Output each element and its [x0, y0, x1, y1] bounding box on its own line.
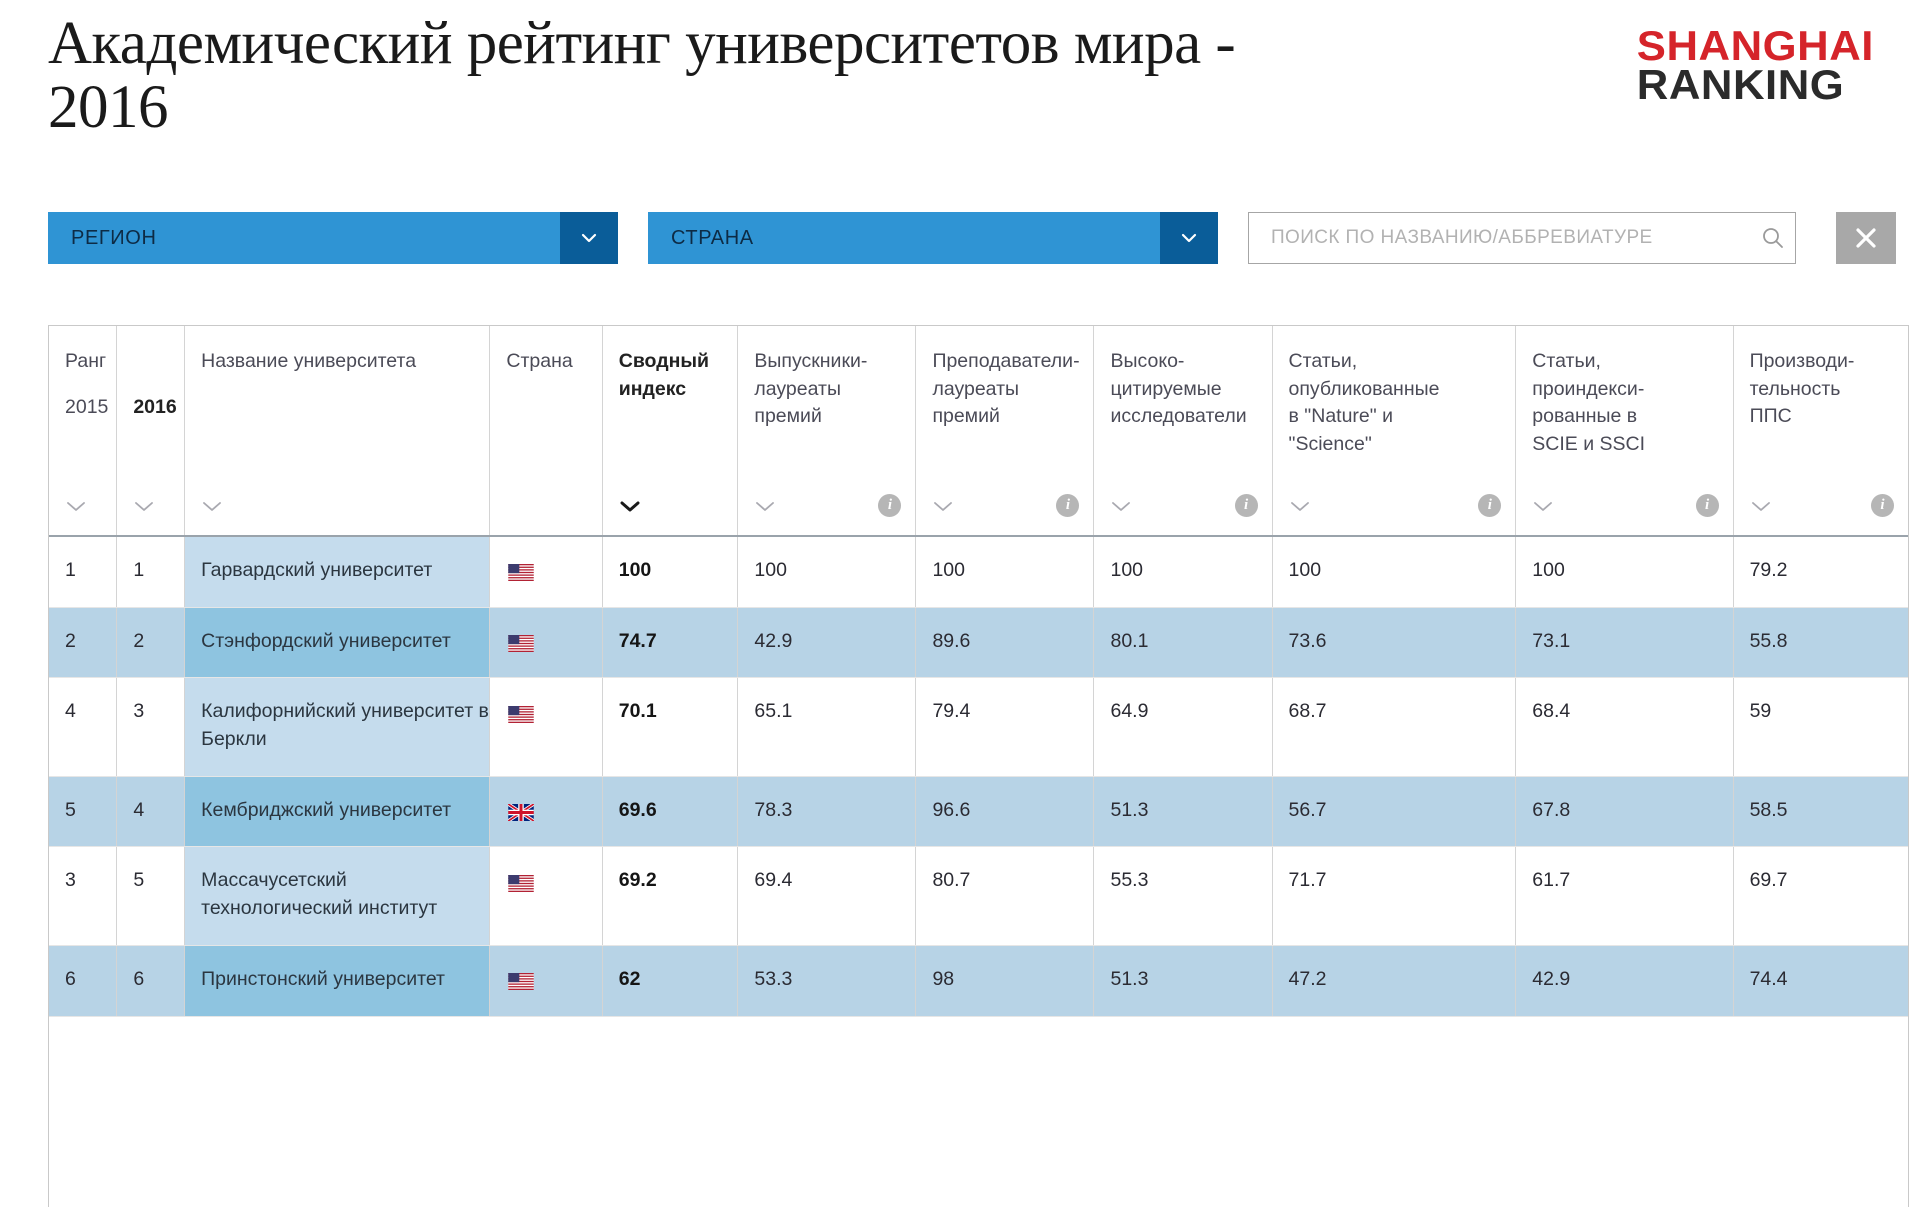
- table-head: Ранг 2015 2016 Название универси: [49, 326, 1908, 536]
- sort-chevron-icon-active[interactable]: [619, 499, 641, 513]
- rank-group-label: Ранг: [65, 348, 116, 376]
- cell-nature-science: 47.2: [1272, 945, 1516, 1016]
- alumni-line-2: лауреаты: [754, 376, 915, 404]
- ns-line-3: в "Nature" и: [1289, 403, 1516, 431]
- info-icon[interactable]: i: [1235, 494, 1258, 517]
- hici-line-3: исследователи: [1110, 403, 1271, 431]
- sort-chevron-icon[interactable]: [754, 499, 776, 513]
- pcp-line-1: Производи-: [1750, 348, 1908, 376]
- search-box[interactable]: [1248, 212, 1796, 264]
- cell-highly-cited: 51.3: [1094, 945, 1272, 1016]
- cell-university-name[interactable]: Калифорнийский университет в Беркли: [185, 678, 490, 776]
- flag-icon-uk: [508, 804, 534, 821]
- cell-nature-science: 68.7: [1272, 678, 1516, 776]
- country-select[interactable]: СТРАНА: [648, 212, 1218, 264]
- info-icon[interactable]: i: [878, 494, 901, 517]
- column-header-award[interactable]: Преподаватели- лауреаты премий i: [916, 326, 1094, 536]
- cell-country-flag: [490, 536, 602, 607]
- info-icon[interactable]: i: [1871, 494, 1894, 517]
- sort-chevron-icon[interactable]: [201, 499, 223, 513]
- cell-rank-2015: 1: [49, 536, 117, 607]
- cell-country-flag: [490, 607, 602, 678]
- filter-bar: РЕГИОН СТРАНА: [0, 212, 1920, 264]
- pub-line-1: Статьи,: [1532, 348, 1732, 376]
- cell-per-capita: 55.8: [1733, 607, 1908, 678]
- column-header-highly-cited[interactable]: Высоко- цитируемые исследователи i: [1094, 326, 1272, 536]
- cell-highly-cited: 80.1: [1094, 607, 1272, 678]
- cell-university-name[interactable]: Массачусетский технологический институт: [185, 847, 490, 945]
- cell-university-name[interactable]: Стэнфордский университет: [185, 607, 490, 678]
- cell-highly-cited: 55.3: [1094, 847, 1272, 945]
- cell-scie-ssci: 73.1: [1516, 607, 1733, 678]
- cell-highly-cited: 100: [1094, 536, 1272, 607]
- hici-line-1: Высоко-: [1110, 348, 1271, 376]
- table-row[interactable]: 35Массачусетский технологический институ…: [49, 847, 1908, 945]
- rank-year-2016-label: 2016: [133, 394, 184, 422]
- close-icon: [1851, 223, 1881, 253]
- cell-rank-2015: 2: [49, 607, 117, 678]
- flag-icon-us: [508, 564, 534, 581]
- rank-year-2015-label: 2015: [65, 394, 116, 422]
- region-select[interactable]: РЕГИОН: [48, 212, 618, 264]
- region-select-label: РЕГИОН: [48, 227, 560, 250]
- cell-scie-ssci: 67.8: [1516, 776, 1733, 847]
- cell-award: 89.6: [916, 607, 1094, 678]
- ns-line-1: Статьи,: [1289, 348, 1516, 376]
- cell-award: 80.7: [916, 847, 1094, 945]
- ranking-table: Ранг 2015 2016 Название универси: [49, 326, 1908, 1017]
- cell-per-capita: 59: [1733, 678, 1908, 776]
- column-header-university-label: Название университета: [201, 348, 489, 376]
- cell-award: 98: [916, 945, 1094, 1016]
- sort-chevron-icon[interactable]: [133, 499, 155, 513]
- cell-rank-2015: 6: [49, 945, 117, 1016]
- cell-country-flag: [490, 776, 602, 847]
- cell-nature-science: 71.7: [1272, 847, 1516, 945]
- chevron-down-icon[interactable]: [560, 212, 618, 264]
- cell-country-flag: [490, 847, 602, 945]
- cell-nature-science: 73.6: [1272, 607, 1516, 678]
- cell-award: 100: [916, 536, 1094, 607]
- cell-university-name[interactable]: Гарвардский университет: [185, 536, 490, 607]
- cell-total-score: 69.6: [602, 776, 738, 847]
- column-header-scie-ssci[interactable]: Статьи, проиндекси- рованные в SCIE и SS…: [1516, 326, 1733, 536]
- hici-line-2: цитируемые: [1110, 376, 1271, 404]
- table-row[interactable]: 66Принстонский университет6253.39851.347…: [49, 945, 1908, 1016]
- table-row[interactable]: 54Кембриджский университет69.678.396.651…: [49, 776, 1908, 847]
- flag-icon-us: [508, 635, 534, 652]
- column-header-country-label: Страна: [506, 348, 601, 376]
- award-line-2: лауреаты: [932, 376, 1093, 404]
- cell-rank-2016: 4: [117, 776, 185, 847]
- cell-alumni: 65.1: [738, 678, 916, 776]
- cell-rank-2015: 3: [49, 847, 117, 945]
- cell-award: 79.4: [916, 678, 1094, 776]
- column-header-rank-2015[interactable]: Ранг 2015: [49, 326, 117, 536]
- table-header-row: Ранг 2015 2016 Название универси: [49, 326, 1908, 536]
- flag-icon-us: [508, 706, 534, 723]
- award-line-3: премий: [932, 403, 1093, 431]
- ns-line-2: опубликованные: [1289, 376, 1516, 404]
- search-input[interactable]: [1249, 226, 1751, 250]
- info-icon[interactable]: i: [1056, 494, 1079, 517]
- sort-chevron-icon[interactable]: [1532, 499, 1554, 513]
- sort-chevron-icon[interactable]: [1289, 499, 1311, 513]
- cell-per-capita: 79.2: [1733, 536, 1908, 607]
- cell-scie-ssci: 68.4: [1516, 678, 1733, 776]
- sort-chevron-icon[interactable]: [1750, 499, 1772, 513]
- cell-alumni: 69.4: [738, 847, 916, 945]
- cell-per-capita: 58.5: [1733, 776, 1908, 847]
- cell-rank-2016: 1: [117, 536, 185, 607]
- total-score-line-1: Сводный: [619, 348, 738, 376]
- table-body: 11Гарвардский университет100100100100100…: [49, 536, 1908, 1016]
- award-line-1: Преподаватели-: [932, 348, 1093, 376]
- alumni-line-3: премий: [754, 403, 915, 431]
- ns-line-4: "Science": [1289, 431, 1516, 459]
- cell-scie-ssci: 61.7: [1516, 847, 1733, 945]
- total-score-line-2: индекс: [619, 376, 738, 404]
- search-icon[interactable]: [1751, 225, 1795, 251]
- cell-country-flag: [490, 678, 602, 776]
- cell-alumni: 53.3: [738, 945, 916, 1016]
- search-glyph: [1760, 225, 1786, 251]
- table-row[interactable]: 22Стэнфордский университет74.742.989.680…: [49, 607, 1908, 678]
- cell-rank-2016: 6: [117, 945, 185, 1016]
- sort-chevron-icon[interactable]: [65, 499, 87, 513]
- info-icon[interactable]: i: [1696, 494, 1719, 517]
- pcp-line-3: ППС: [1750, 403, 1908, 431]
- info-icon[interactable]: i: [1478, 494, 1501, 517]
- cell-rank-2015: 5: [49, 776, 117, 847]
- column-header-rank-2016[interactable]: 2016: [117, 326, 185, 536]
- cell-total-score: 70.1: [602, 678, 738, 776]
- column-header-total-score[interactable]: Сводный индекс: [602, 326, 738, 536]
- cell-total-score: 100: [602, 536, 738, 607]
- sort-chevron-icon[interactable]: [1110, 499, 1132, 513]
- chevron-down-glyph: [579, 228, 599, 248]
- ranking-table-container: Ранг 2015 2016 Название универси: [48, 325, 1909, 1207]
- column-header-alumni[interactable]: Выпускники- лауреаты премий i: [738, 326, 916, 536]
- logo-shanghai-text: SHANGHAI: [1637, 26, 1907, 65]
- country-select-label: СТРАНА: [648, 227, 1160, 250]
- cell-alumni: 78.3: [738, 776, 916, 847]
- cell-rank-2016: 2: [117, 607, 185, 678]
- table-row[interactable]: 11Гарвардский университет100100100100100…: [49, 536, 1908, 607]
- cell-scie-ssci: 100: [1516, 536, 1733, 607]
- cell-country-flag: [490, 945, 602, 1016]
- page-header: Академический рейтинг университетов мира…: [0, 0, 1920, 175]
- cell-total-score: 74.7: [602, 607, 738, 678]
- cell-per-capita: 69.7: [1733, 847, 1908, 945]
- flag-icon-us: [508, 875, 534, 892]
- page-title: Академический рейтинг университетов мира…: [48, 12, 1248, 140]
- flag-icon-us: [508, 973, 534, 990]
- cell-highly-cited: 51.3: [1094, 776, 1272, 847]
- shanghai-ranking-logo: SHANGHAI RANKING: [1637, 26, 1907, 104]
- pub-line-2: проиндекси-: [1532, 376, 1732, 404]
- cell-total-score: 62: [602, 945, 738, 1016]
- cell-university-name[interactable]: Принстонский университет: [185, 945, 490, 1016]
- cell-nature-science: 100: [1272, 536, 1516, 607]
- chevron-down-glyph: [1179, 228, 1199, 248]
- column-header-per-capita[interactable]: Производи- тельность ППС i: [1733, 326, 1908, 536]
- cell-scie-ssci: 42.9: [1516, 945, 1733, 1016]
- pub-line-4: SCIE и SSCI: [1532, 431, 1732, 459]
- cell-alumni: 100: [738, 536, 916, 607]
- chevron-down-icon[interactable]: [1160, 212, 1218, 264]
- pcp-line-2: тельность: [1750, 376, 1908, 404]
- column-header-university[interactable]: Название университета: [185, 326, 490, 536]
- alumni-line-1: Выпускники-: [754, 348, 915, 376]
- cell-total-score: 69.2: [602, 847, 738, 945]
- cell-per-capita: 74.4: [1733, 945, 1908, 1016]
- cell-rank-2016: 3: [117, 678, 185, 776]
- column-header-country: Страна: [490, 326, 602, 536]
- clear-filters-button[interactable]: [1836, 212, 1896, 264]
- rank-spacer: [133, 348, 184, 376]
- logo-ranking-text: RANKING: [1637, 65, 1907, 104]
- sort-chevron-icon[interactable]: [932, 499, 954, 513]
- cell-university-name[interactable]: Кембриджский университет: [185, 776, 490, 847]
- cell-nature-science: 56.7: [1272, 776, 1516, 847]
- cell-rank-2015: 4: [49, 678, 117, 776]
- cell-rank-2016: 5: [117, 847, 185, 945]
- cell-alumni: 42.9: [738, 607, 916, 678]
- pub-line-3: рованные в: [1532, 403, 1732, 431]
- table-row[interactable]: 43Калифорнийский университет в Беркли70.…: [49, 678, 1908, 776]
- cell-highly-cited: 64.9: [1094, 678, 1272, 776]
- cell-award: 96.6: [916, 776, 1094, 847]
- column-header-nature-science[interactable]: Статьи, опубликованные в "Nature" и "Sci…: [1272, 326, 1516, 536]
